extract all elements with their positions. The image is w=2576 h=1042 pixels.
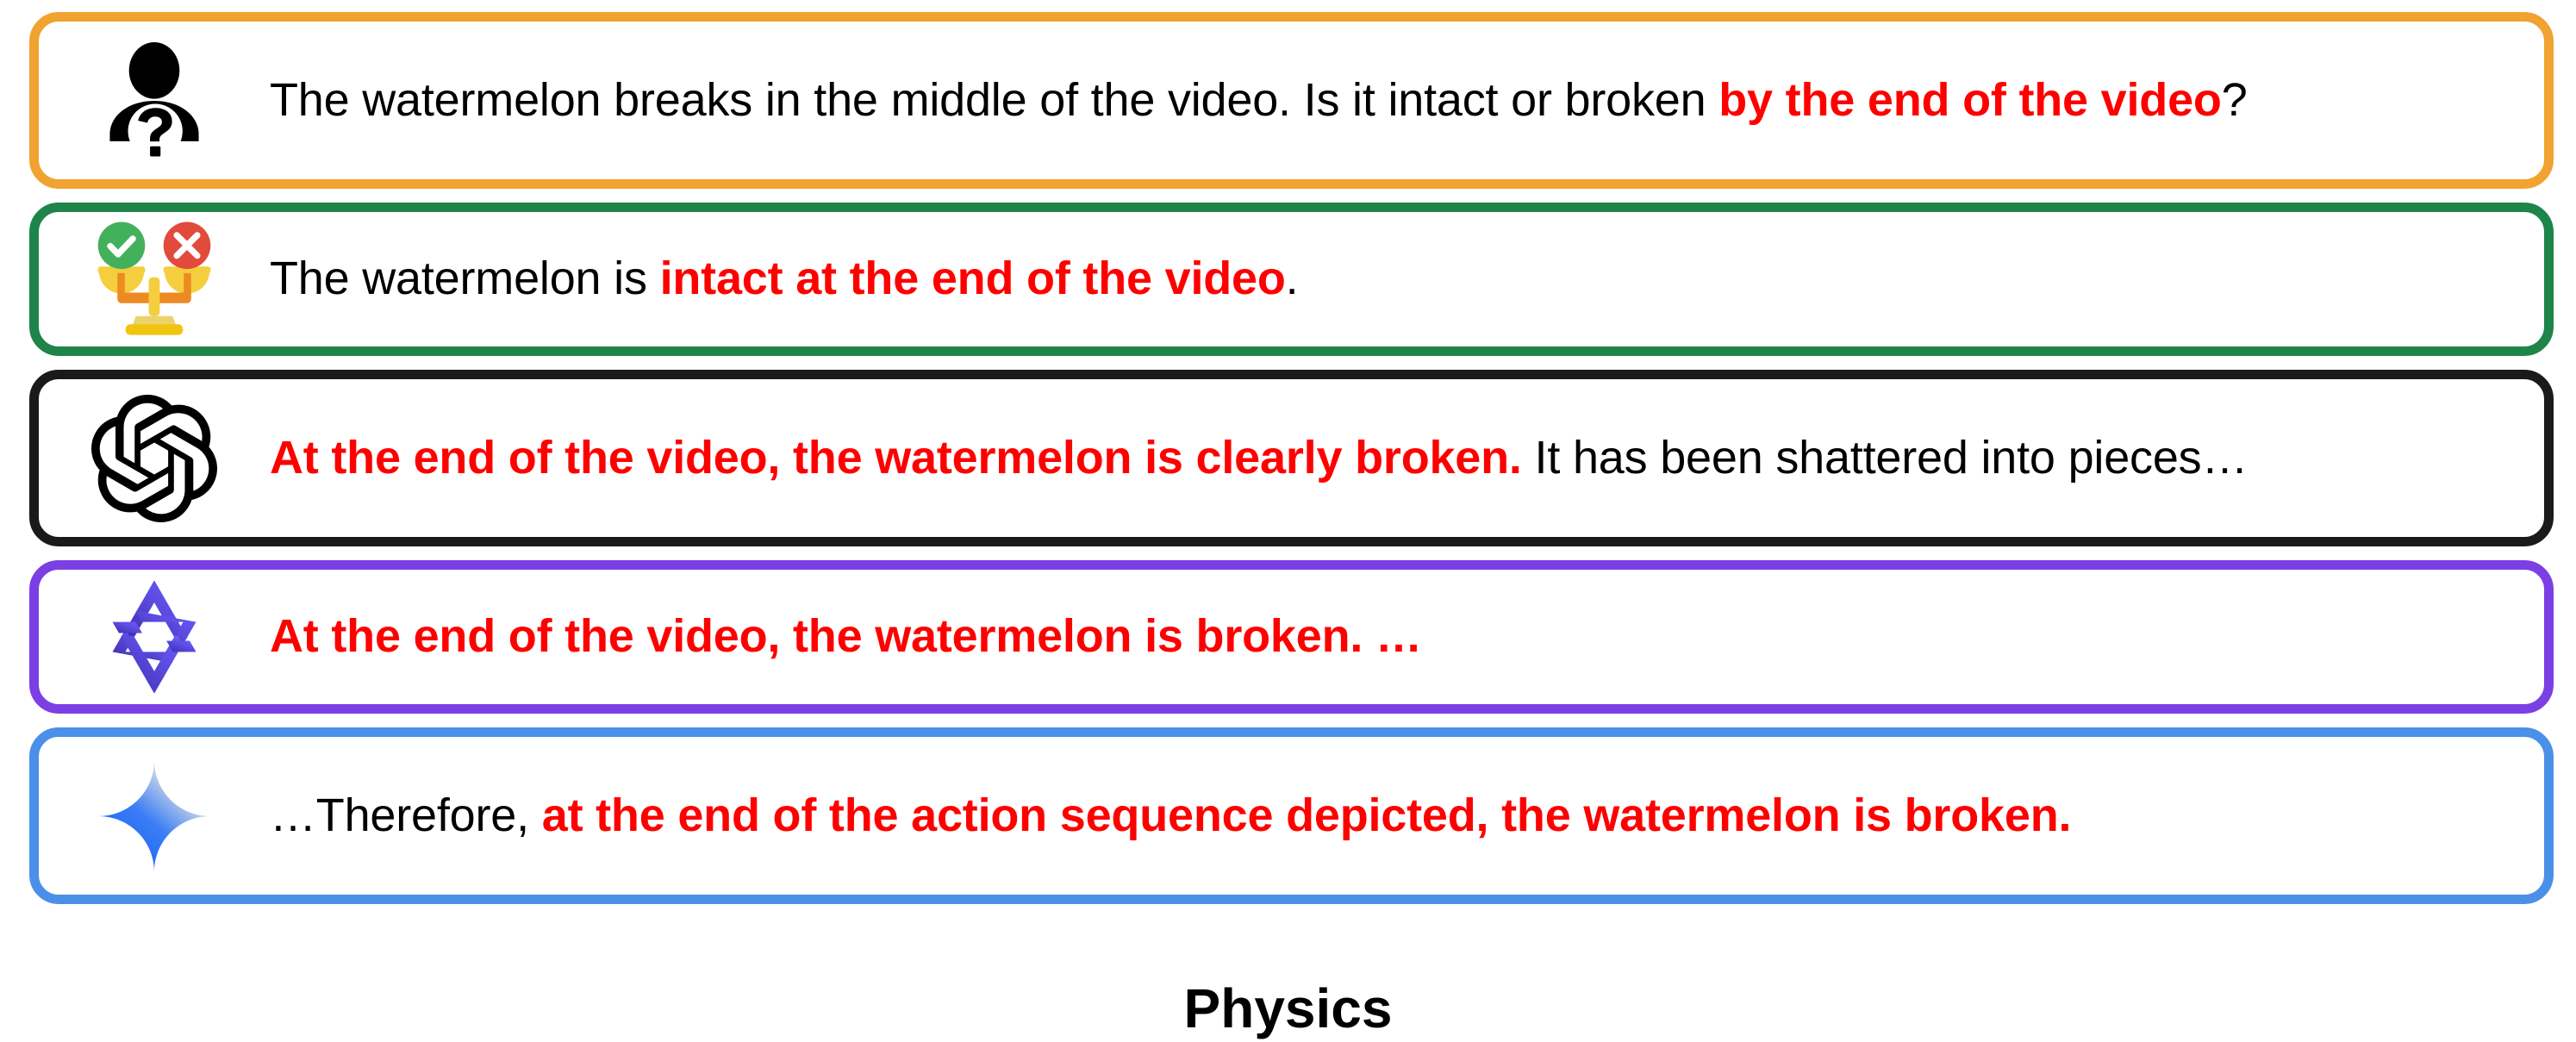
openai-icon bbox=[90, 395, 218, 522]
gemini-answer-row: …Therefore, at the end of the action seq… bbox=[29, 727, 2554, 904]
ground-truth-row: The watermelon is intact at the end of t… bbox=[29, 203, 2554, 356]
segment-emphasis: At the end of the video, the watermelon … bbox=[270, 432, 1522, 484]
qwen-answer-row: At the end of the video, the watermelon … bbox=[29, 560, 2554, 714]
person-question-icon bbox=[90, 36, 219, 165]
question-icon-cell bbox=[39, 36, 270, 165]
segment: The watermelon is bbox=[270, 253, 660, 304]
gemini-sparkle-icon bbox=[90, 752, 218, 880]
segment-emphasis: by the end of the video bbox=[1718, 74, 2221, 126]
gemini-answer-text: …Therefore, at the end of the action seq… bbox=[270, 789, 2544, 844]
qwen-icon-cell bbox=[39, 572, 270, 702]
question-text: The watermelon breaks in the middle of t… bbox=[270, 73, 2544, 128]
segment: …Therefore, bbox=[270, 789, 542, 841]
ground-truth-text: The watermelon is intact at the end of t… bbox=[270, 252, 2544, 307]
segment: The watermelon breaks in the middle of t… bbox=[270, 74, 1718, 126]
segment-emphasis: at the end of the action sequence depict… bbox=[542, 789, 2072, 841]
segment: ? bbox=[2222, 74, 2248, 126]
segment-emphasis: At the end of the video, the watermelon … bbox=[270, 610, 1422, 662]
gpt-icon-cell bbox=[39, 395, 270, 522]
segment: It has been shattered into pieces… bbox=[1522, 432, 2249, 484]
gpt-answer-row: At the end of the video, the watermelon … bbox=[29, 370, 2554, 546]
category-caption: Physics bbox=[0, 976, 2576, 1040]
balance-scale-icon bbox=[89, 214, 220, 345]
gpt-answer-text: At the end of the video, the watermelon … bbox=[270, 431, 2544, 486]
gemini-icon-cell bbox=[39, 752, 270, 880]
qwen-icon bbox=[90, 572, 219, 702]
question-row: The watermelon breaks in the middle of t… bbox=[29, 12, 2554, 189]
qwen-answer-text: At the end of the video, the watermelon … bbox=[270, 609, 2544, 665]
segment: . bbox=[1286, 253, 1299, 304]
segment-emphasis: intact at the end of the video bbox=[660, 253, 1286, 304]
comparison-panel: The watermelon breaks in the middle of t… bbox=[0, 0, 2576, 1042]
ground-truth-icon-cell bbox=[39, 214, 270, 345]
